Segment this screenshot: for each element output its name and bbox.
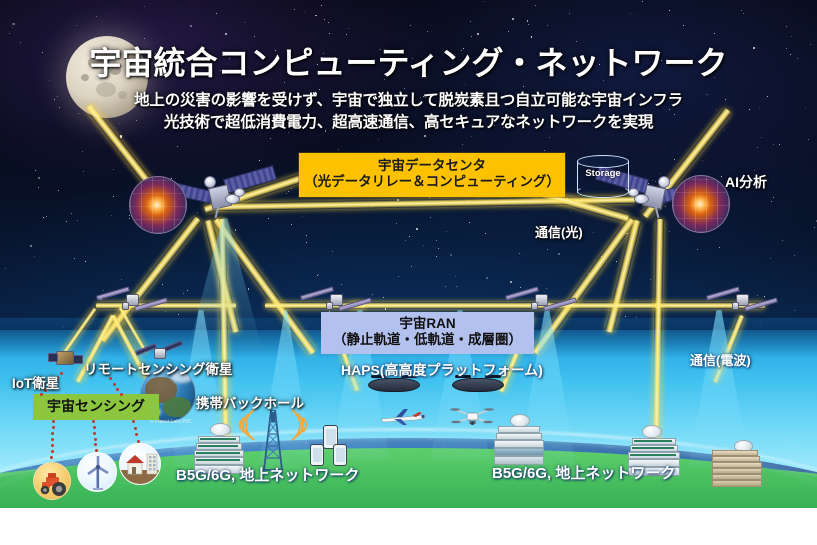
ground-station-building-icon <box>712 450 762 488</box>
space-datacenter-line-1: 宇宙データセンタ <box>299 158 565 174</box>
ai-brain-photo-icon <box>129 176 187 234</box>
leo-satellite-icon <box>300 286 372 314</box>
radio-wave-icon <box>288 408 314 442</box>
space-sensing-box: 宇宙センシング <box>33 394 159 420</box>
quadcopter-drone-icon <box>450 406 494 428</box>
leo-satellite-icon <box>96 286 168 314</box>
ai-analysis-label: AI分析 <box>725 172 767 192</box>
cubesat-icon <box>48 348 84 370</box>
radio-wave-icon <box>232 408 258 442</box>
smartphone-icon <box>333 444 347 466</box>
remote-sensing-label: リモートセンシング衛星 <box>84 358 233 378</box>
smartphone-icon <box>310 444 324 466</box>
subtitle-line-1: 地上の災害の影響を受けず、宇宙で独立して脱炭素且つ自立可能な宇宙インフラ <box>0 88 817 110</box>
space-ran-line-2: （静止軌道・低軌道・成層圏） <box>321 332 534 348</box>
space-integrated-computing-network-diagram: 宇宙統合コンピューティング・ネットワーク 地上の災害の影響を受けず、宇宙で独立し… <box>0 0 817 545</box>
haps-airship-icon <box>452 378 504 392</box>
database-cylinder-icon: Storage <box>577 155 629 199</box>
haps-airship-icon <box>368 378 420 392</box>
space-ran-line-1: 宇宙RAN <box>321 316 534 332</box>
haps-label: HAPS(高高度プラットフォーム) <box>341 360 543 380</box>
house-icon <box>119 443 161 485</box>
space-datacenter-box: 宇宙データセンタ （光データリレー＆コンピューティング） <box>299 153 565 197</box>
airplane-icon <box>378 408 428 426</box>
storage-label: Storage <box>577 168 629 179</box>
terrestrial-network-label-left: B5G/6G, 地上ネットワーク <box>176 464 359 485</box>
ai-brain-photo-icon <box>672 175 730 233</box>
radio-comm-label: 通信(電波) <box>690 350 751 369</box>
cell-tower-icon <box>256 410 290 472</box>
optical-comm-label: 通信(光) <box>535 222 583 241</box>
terrestrial-network-label-right: B5G/6G, 地上ネットワーク <box>492 462 675 483</box>
iot-satellite-label: IoT衛星 <box>12 372 59 392</box>
leo-satellite-icon <box>505 286 577 314</box>
mobile-backhaul-label: 携帯バックホール <box>196 392 304 412</box>
wind-turbine-icon <box>77 452 117 492</box>
leo-satellite-icon <box>706 286 778 314</box>
bottom-white-margin <box>0 508 817 545</box>
space-ran-box: 宇宙RAN （静止軌道・低軌道・成層圏） <box>321 312 534 354</box>
tractor-icon <box>33 462 71 500</box>
subtitle-line-2: 光技術で超低消費電力、超高速通信、高セキュアなネットワークを実現 <box>0 110 817 132</box>
page-title: 宇宙統合コンピューティング・ネットワーク <box>0 38 817 84</box>
space-datacenter-line-2: （光データリレー＆コンピューティング） <box>299 174 565 190</box>
